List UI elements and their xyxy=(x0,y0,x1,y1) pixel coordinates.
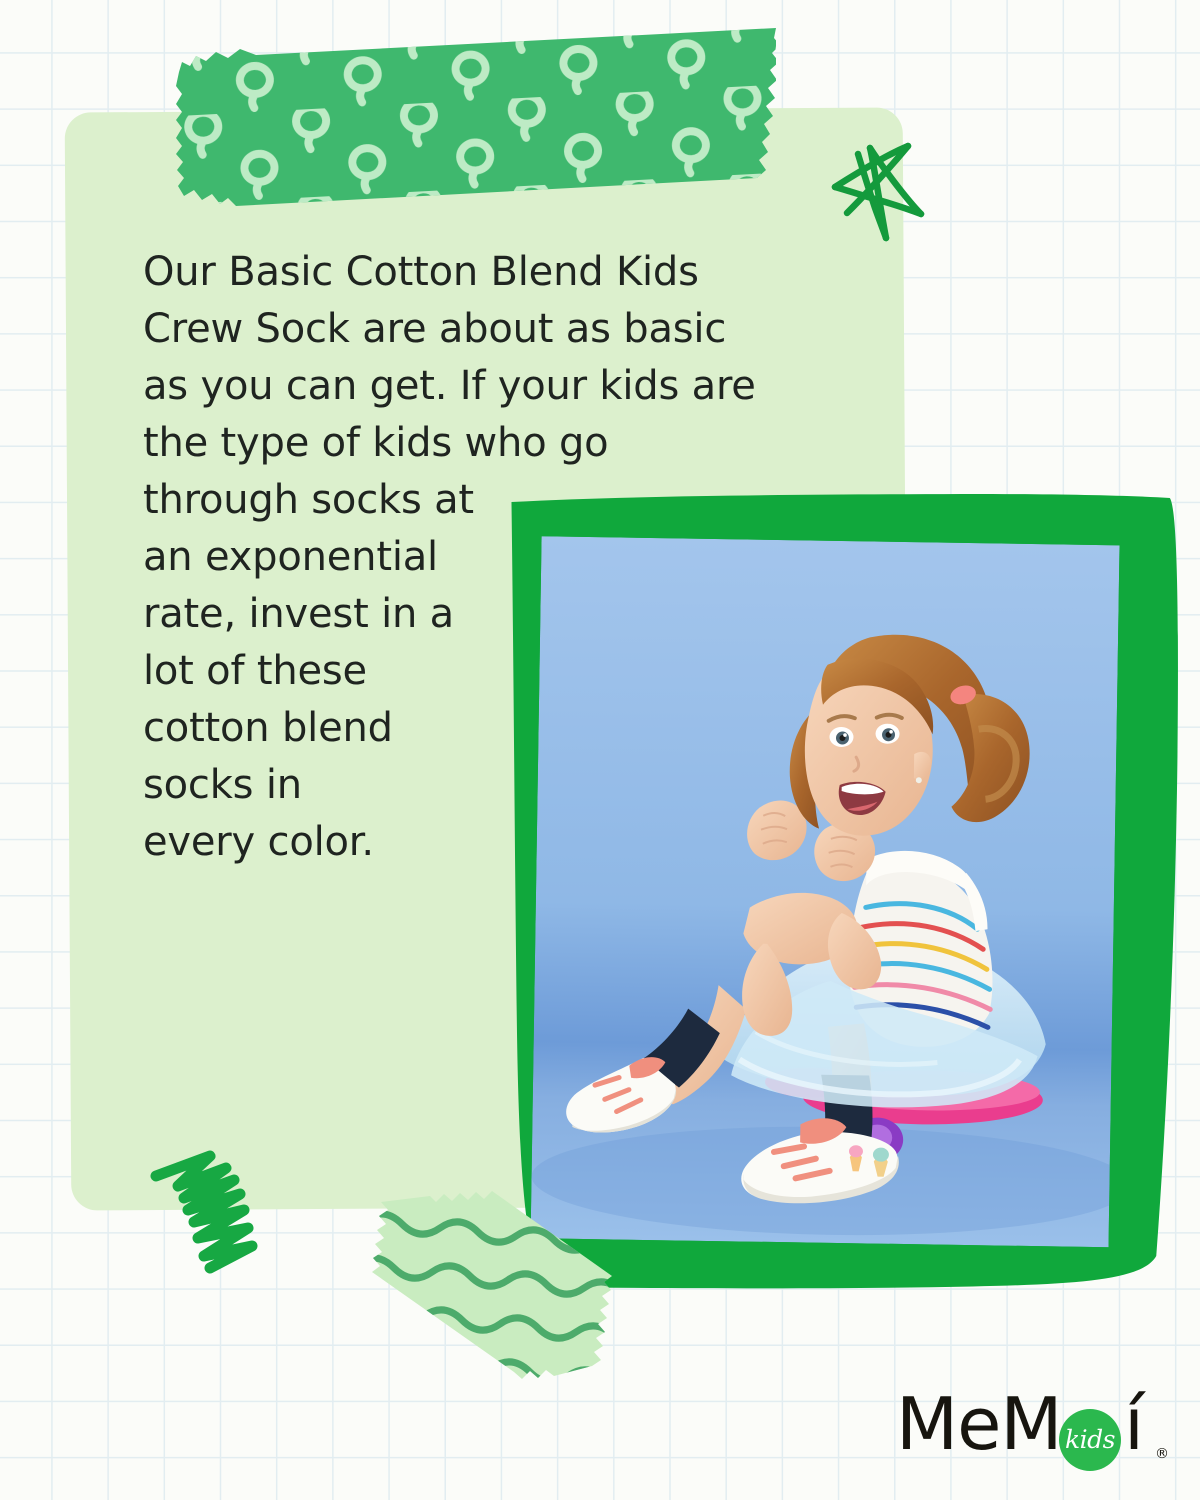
photo-image xyxy=(531,536,1120,1247)
star-doodle-icon xyxy=(822,128,934,246)
registered-mark: ® xyxy=(1155,1446,1169,1462)
poster-canvas: Our Basic Cotton Blend Kids Crew Sock ar… xyxy=(0,0,1200,1500)
washi-tape-dots xyxy=(176,28,776,208)
logo-name-end: í xyxy=(1124,1386,1144,1462)
washi-tape-waves xyxy=(368,1190,618,1380)
photo-card xyxy=(482,480,1188,1309)
brand-logo: MeM kids í ® xyxy=(896,1386,1168,1478)
scribble-doodle-icon xyxy=(148,1140,278,1280)
photo-artwork xyxy=(531,536,1120,1247)
logo-name-start: MeM xyxy=(896,1386,1062,1462)
logo-kids-badge: kids xyxy=(1059,1409,1121,1471)
logo-kids-label: kids xyxy=(1059,1409,1121,1471)
